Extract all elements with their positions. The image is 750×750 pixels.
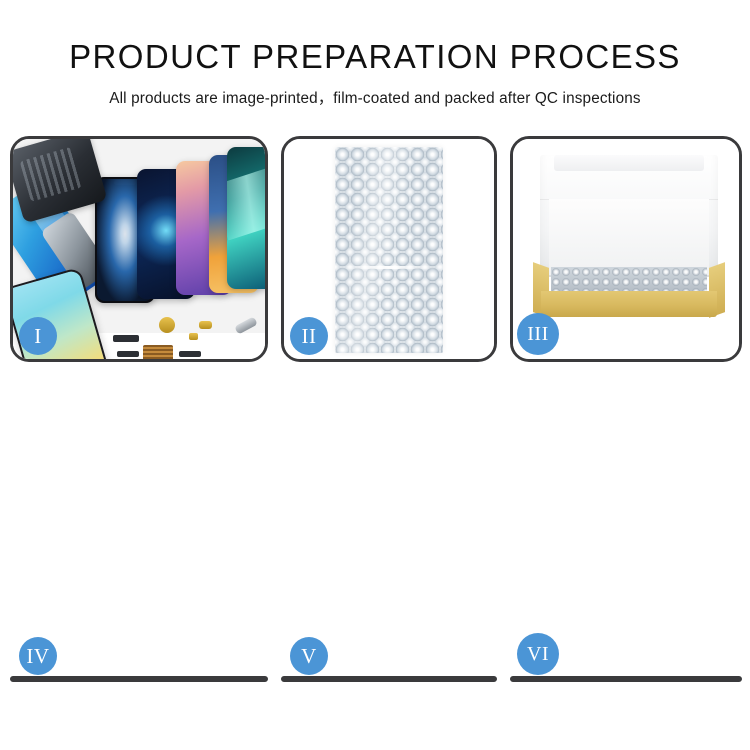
inner-box-front-panel-icon xyxy=(541,291,717,317)
step-badge-1: I xyxy=(19,317,57,355)
step-panel-1[interactable]: I xyxy=(10,136,268,362)
step-panel-5[interactable]: V xyxy=(281,676,497,682)
part-connector-icon xyxy=(113,335,139,342)
step-cell-6: VI xyxy=(510,676,742,682)
part-gold-clip-icon xyxy=(199,321,212,329)
page-subtitle: All products are image-printed，film-coat… xyxy=(0,86,750,108)
step-badge-6: VI xyxy=(517,633,559,675)
part-flex-cable-icon xyxy=(117,351,139,357)
product-preparation-infographic: PRODUCT PREPARATION PROCESS All products… xyxy=(0,0,750,750)
grid-row-gap xyxy=(10,362,742,460)
part-gold-tab-icon xyxy=(189,333,198,340)
phone-green-display-icon xyxy=(227,147,265,289)
part-chip-array-icon xyxy=(143,345,173,359)
step-panel-6[interactable]: VI xyxy=(510,676,742,682)
step-badge-3: III xyxy=(517,313,559,355)
step-badge-2: II xyxy=(290,317,328,355)
step-panel-4[interactable]: Mobile Phone Spare Parts Mobile Phone Sp… xyxy=(10,676,268,682)
page-title: PRODUCT PREPARATION PROCESS xyxy=(0,40,750,75)
step-badge-5: V xyxy=(290,637,328,675)
part-ribbon-icon xyxy=(179,351,201,357)
process-step-grid: I II xyxy=(10,136,742,682)
step-cell-3: III xyxy=(510,136,742,362)
step-cell-4: Mobile Phone Spare Parts Mobile Phone Sp… xyxy=(10,676,268,682)
step-panel-2[interactable]: II xyxy=(281,136,497,362)
bubble-wrap-sheen xyxy=(335,147,443,353)
part-gold-coil-icon xyxy=(159,317,175,333)
step-cell-2: II xyxy=(281,136,497,362)
inner-box-foam-liner-icon xyxy=(549,199,709,275)
step-panel-3[interactable]: III xyxy=(510,136,742,362)
header: PRODUCT PREPARATION PROCESS All products… xyxy=(0,0,750,108)
step-cell-5: V xyxy=(281,676,497,682)
bubble-wrap-seam xyxy=(335,266,443,269)
step-cell-1: I xyxy=(10,136,268,362)
step-badge-4: IV xyxy=(19,637,57,675)
bubble-wrap-sleeve-icon xyxy=(335,147,443,353)
